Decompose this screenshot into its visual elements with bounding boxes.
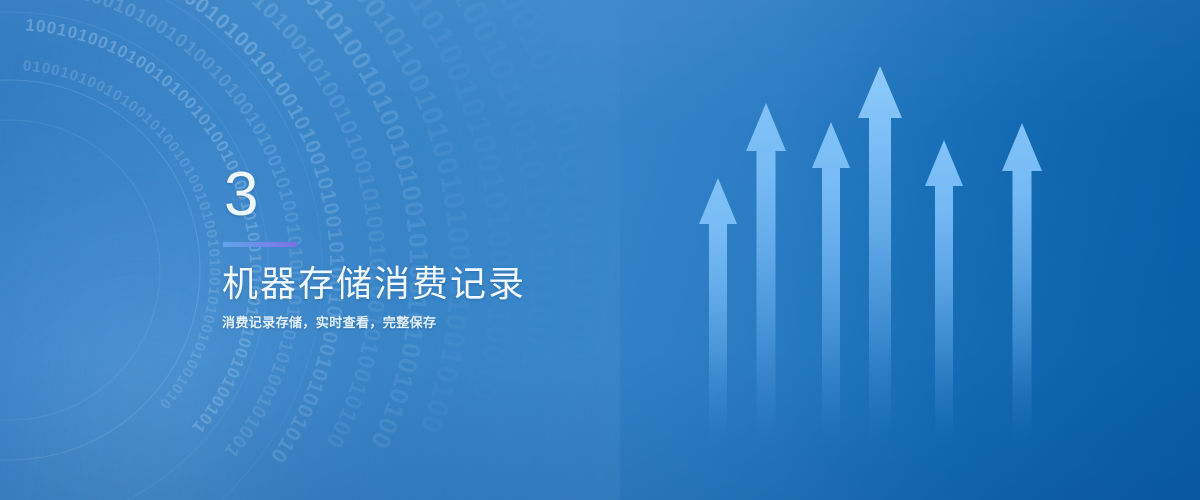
arrow-5 [925,140,963,445]
arrow-6 [1002,123,1042,445]
growth-arrows [660,0,1080,500]
arrow-1 [699,178,737,445]
step-number: 3 [224,160,682,230]
title-divider [223,242,297,247]
slide-canvas: 0100101001010010100101001010010100101001… [0,0,1200,500]
page-subtitle: 消费记录存储，实时查看，完整保存 [222,313,682,333]
arrow-3 [812,122,850,445]
arrow-2 [746,103,786,445]
slide-text-block: 3 机器存储消费记录 消费记录存储，实时查看，完整保存 [222,160,682,333]
arrow-4 [858,66,902,445]
page-title: 机器存储消费记录 [222,263,682,305]
